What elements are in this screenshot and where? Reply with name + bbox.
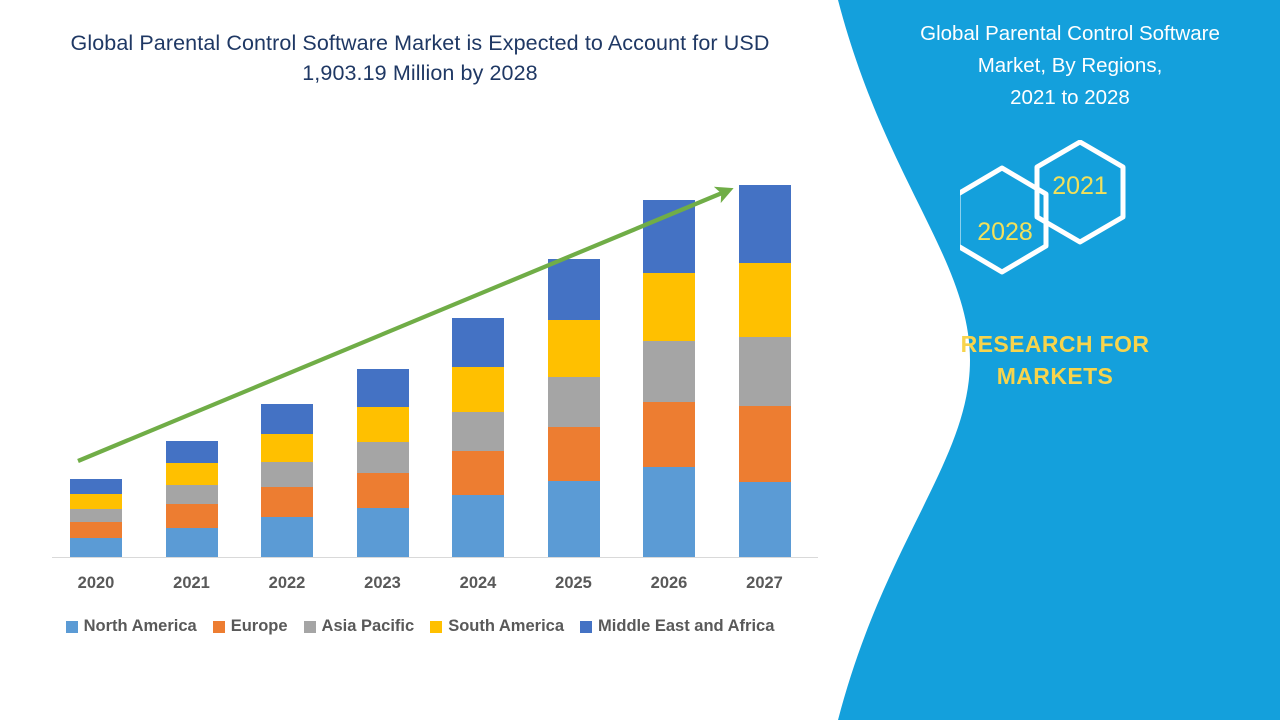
chart-legend: North AmericaEuropeAsia PacificSouth Ame… [0,617,840,636]
legend-item-north-america[interactable]: North America [66,617,197,636]
legend-swatch-middle-east-and-africa [580,621,592,633]
bar-stack-2022[interactable] [261,404,313,557]
bar-stack-2024[interactable] [452,318,504,557]
x-tick-label-2023: 2023 [338,574,428,593]
plot-area: 20202021202220232024202520262027 [0,0,840,600]
legend-label-north-america: North America [84,617,197,636]
hexagon-year-2021-label: 2021 [1035,172,1125,201]
bar-segment-north-america-2024[interactable] [452,495,504,557]
chart-panel: Global Parental Control Software Market … [0,0,840,720]
bar-segment-europe-2021[interactable] [166,504,218,528]
x-tick-label-2022: 2022 [242,574,332,593]
bar-segment-middle-east-and-africa-2026[interactable] [643,200,695,273]
brand-name-line-1: RESEARCH FOR [855,328,1255,360]
x-tick-label-2026: 2026 [624,574,714,593]
bar-segment-asia-pacific-2026[interactable] [643,341,695,402]
bar-segments [166,441,218,557]
bar-segment-north-america-2023[interactable] [357,508,409,557]
bar-segment-europe-2027[interactable] [739,406,791,482]
bar-segment-asia-pacific-2021[interactable] [166,485,218,504]
bar-segment-europe-2024[interactable] [452,451,504,495]
legend-label-asia-pacific: Asia Pacific [322,617,415,636]
legend-swatch-north-america [66,621,78,633]
bar-segment-asia-pacific-2020[interactable] [70,509,122,522]
bar-segment-middle-east-and-africa-2020[interactable] [70,479,122,494]
brand-title-line-1: Global Parental Control Software [870,18,1270,50]
brand-name-line-2: MARKETS [855,360,1255,392]
bar-stack-2027[interactable] [739,185,791,557]
legend-item-south-america[interactable]: South America [430,617,564,636]
hexagon-cluster: 2021 2028 [960,140,1160,285]
bar-segments [357,369,409,557]
bar-segment-middle-east-and-africa-2021[interactable] [166,441,218,463]
bar-stack-2020[interactable] [70,479,122,557]
bar-segment-north-america-2027[interactable] [739,482,791,557]
bar-segment-asia-pacific-2023[interactable] [357,442,409,473]
legend-label-europe: Europe [231,617,288,636]
trend-arrow-icon [0,0,840,600]
bar-stack-2021[interactable] [166,441,218,557]
legend-item-middle-east-and-africa[interactable]: Middle East and Africa [580,617,774,636]
legend-label-middle-east-and-africa: Middle East and Africa [598,617,774,636]
bar-segment-asia-pacific-2027[interactable] [739,337,791,406]
brand-name: RESEARCH FOR MARKETS [855,328,1255,392]
legend-label-south-america: South America [448,617,564,636]
bar-segments [70,479,122,557]
bar-segment-europe-2023[interactable] [357,473,409,508]
legend-item-asia-pacific[interactable]: Asia Pacific [304,617,415,636]
bar-segment-europe-2022[interactable] [261,487,313,517]
bar-segment-south-america-2020[interactable] [70,494,122,509]
x-tick-label-2027: 2027 [720,574,810,593]
bar-segment-asia-pacific-2022[interactable] [261,462,313,487]
x-tick-label-2021: 2021 [147,574,237,593]
bar-stack-2026[interactable] [643,200,695,557]
bar-segment-europe-2020[interactable] [70,522,122,538]
x-tick-label-2020: 2020 [51,574,141,593]
bar-segment-north-america-2022[interactable] [261,517,313,557]
brand-content: Global Parental Control Software Market,… [830,0,1280,720]
bar-segment-south-america-2026[interactable] [643,273,695,341]
bar-segment-south-america-2021[interactable] [166,463,218,485]
legend-item-europe[interactable]: Europe [213,617,288,636]
bar-segment-north-america-2025[interactable] [548,481,600,557]
bar-stack-2025[interactable] [548,259,600,557]
bar-stack-2023[interactable] [357,369,409,557]
bar-segment-europe-2026[interactable] [643,402,695,467]
bar-segments [548,259,600,557]
bar-segment-asia-pacific-2025[interactable] [548,377,600,427]
bar-segment-south-america-2025[interactable] [548,320,600,377]
brand-panel: Global Parental Control Software Market,… [830,0,1280,720]
bar-segment-south-america-2024[interactable] [452,367,504,412]
bar-segment-middle-east-and-africa-2027[interactable] [739,185,791,263]
legend-swatch-south-america [430,621,442,633]
bar-segment-south-america-2022[interactable] [261,434,313,462]
hexagon-year-2028-label: 2028 [960,218,1050,247]
brand-title-line-3: 2021 to 2028 [870,82,1270,114]
bar-segment-north-america-2026[interactable] [643,467,695,557]
bar-segment-middle-east-and-africa-2025[interactable] [548,259,600,320]
brand-title: Global Parental Control Software Market,… [870,18,1270,114]
bar-segments [739,185,791,557]
bar-segment-north-america-2021[interactable] [166,528,218,557]
hexagon-outlines-icon [960,140,1160,285]
bar-segment-south-america-2027[interactable] [739,263,791,337]
bar-segment-south-america-2023[interactable] [357,407,409,442]
bar-segment-europe-2025[interactable] [548,427,600,481]
bar-segment-middle-east-and-africa-2024[interactable] [452,318,504,367]
bar-segments [452,318,504,557]
x-axis-line [52,557,818,558]
x-tick-label-2024: 2024 [433,574,523,593]
bar-segment-middle-east-and-africa-2023[interactable] [357,369,409,407]
legend-swatch-asia-pacific [304,621,316,633]
bar-segment-middle-east-and-africa-2022[interactable] [261,404,313,434]
legend-swatch-europe [213,621,225,633]
bar-segment-north-america-2020[interactable] [70,538,122,557]
brand-title-line-2: Market, By Regions, [870,50,1270,82]
bar-segments [261,404,313,557]
bar-segments [643,200,695,557]
x-tick-label-2025: 2025 [529,574,619,593]
bar-segment-asia-pacific-2024[interactable] [452,412,504,451]
